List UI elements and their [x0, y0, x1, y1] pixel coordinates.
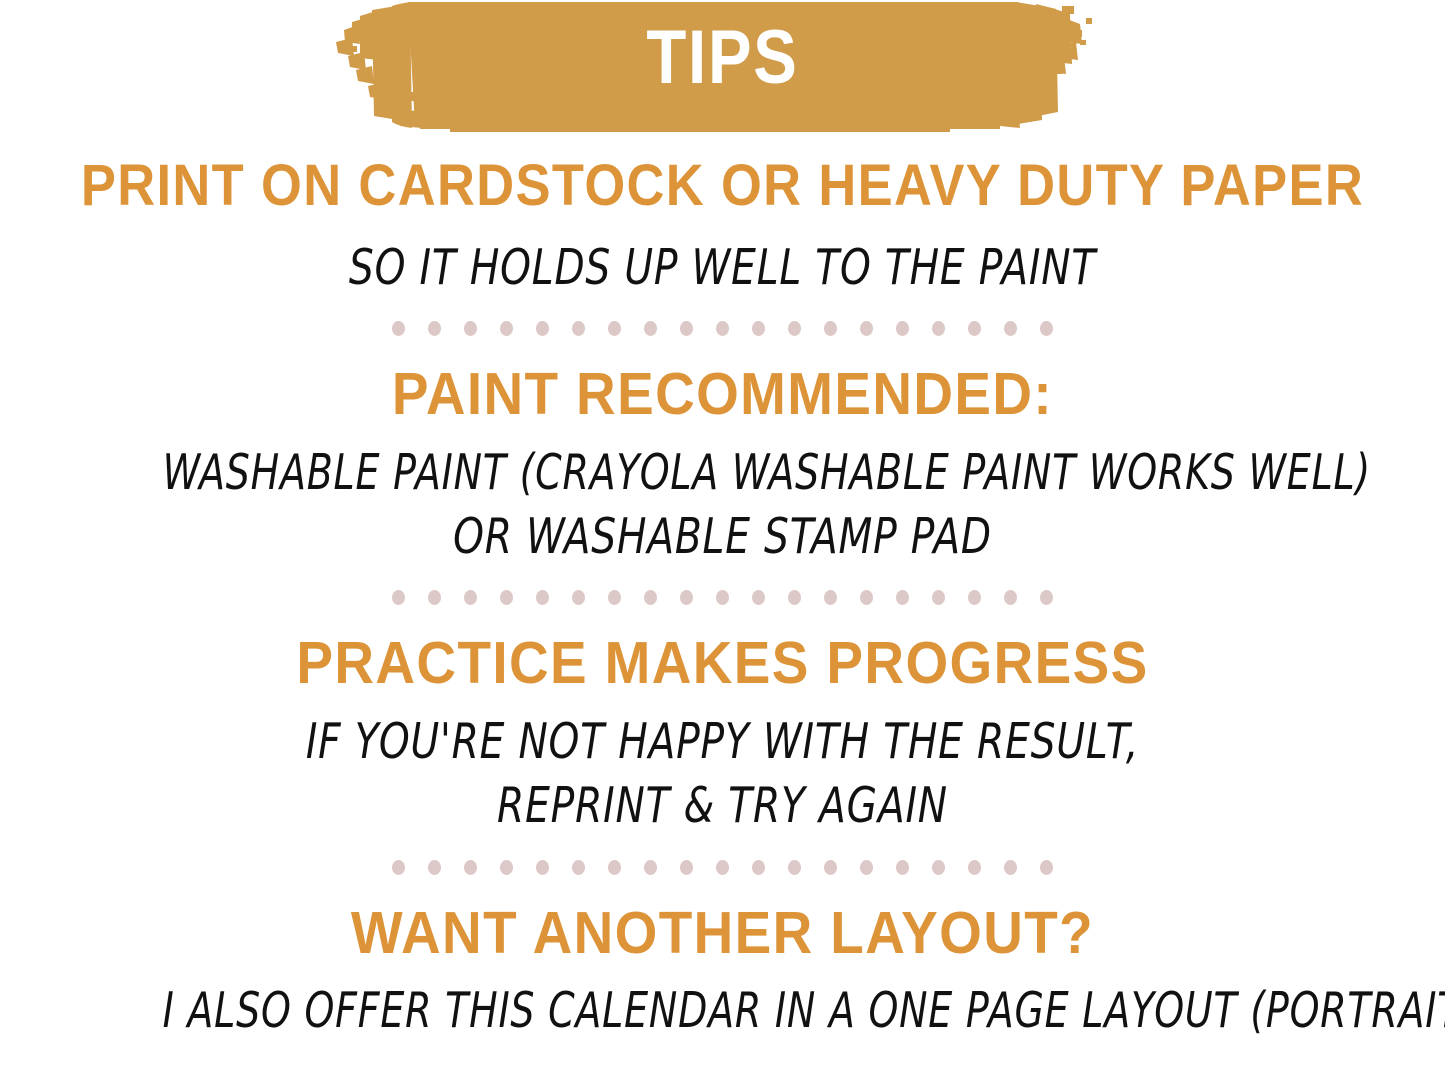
- divider-dot: [968, 590, 981, 605]
- divider-dot: [788, 590, 801, 605]
- divider-dot: [608, 590, 621, 605]
- divider-dot: [500, 590, 513, 605]
- divider-dot: [860, 321, 873, 336]
- divider-dot: [1040, 321, 1053, 336]
- divider-dot: [1004, 860, 1017, 875]
- divider-dot: [1040, 860, 1053, 875]
- divider-dot: [716, 860, 729, 875]
- divider-dot: [752, 590, 765, 605]
- divider-dot: [716, 321, 729, 336]
- tip-heading-4: WANT ANOTHER LAYOUT?: [51, 902, 1395, 966]
- divider-dot: [932, 590, 945, 605]
- tip-section-1: PRINT ON CARDSTOCK OR HEAVY DUTY PAPER S…: [0, 155, 1445, 299]
- divider-dot: [824, 860, 837, 875]
- banner-title: TIPS: [101, 0, 1344, 133]
- divider-dot: [1004, 590, 1017, 605]
- tip-body-1-line-1: SO IT HOLDS UP WELL TO THE PAINT: [145, 236, 1301, 300]
- divider-dot: [716, 590, 729, 605]
- divider-dot: [392, 860, 405, 875]
- divider-dot: [752, 321, 765, 336]
- divider-dot: [464, 860, 477, 875]
- divider-dot: [464, 321, 477, 336]
- divider-dot: [968, 860, 981, 875]
- divider-dot: [536, 321, 549, 336]
- divider-dot: [644, 590, 657, 605]
- divider-dot: [824, 321, 837, 336]
- tip-heading-2: PAINT RECOMMENDED:: [51, 363, 1395, 427]
- tip-heading-3: PRACTICE MAKES PROGRESS: [51, 632, 1395, 696]
- tip-section-4: WANT ANOTHER LAYOUT? I ALSO OFFER THIS C…: [0, 902, 1445, 1043]
- tip-body-2-line-1: WASHABLE PAINT (CRAYOLA WASHABLE PAINT W…: [163, 441, 1283, 505]
- divider-3: [0, 860, 1445, 875]
- divider-dot: [608, 860, 621, 875]
- divider-dot: [896, 860, 909, 875]
- divider-dot: [428, 321, 441, 336]
- divider-dot: [680, 590, 693, 605]
- divider-dot: [788, 321, 801, 336]
- tip-body-3-line-2: REPRINT & TRY AGAIN: [145, 774, 1301, 838]
- divider-dot: [860, 860, 873, 875]
- tip-section-3: PRACTICE MAKES PROGRESS IF YOU'RE NOT HA…: [0, 632, 1445, 837]
- divider-dot: [572, 590, 585, 605]
- divider-dot: [536, 590, 549, 605]
- tip-body-2-line-2: OR WASHABLE STAMP PAD: [145, 505, 1301, 569]
- divider-dot: [572, 321, 585, 336]
- divider-dot: [428, 860, 441, 875]
- divider-dot: [500, 321, 513, 336]
- divider-dot: [428, 590, 441, 605]
- divider-dot: [932, 321, 945, 336]
- divider-dot: [644, 321, 657, 336]
- divider-dot: [1040, 590, 1053, 605]
- divider-dot: [968, 321, 981, 336]
- divider-dot: [608, 321, 621, 336]
- tips-banner: TIPS: [0, 0, 1445, 133]
- divider-dot: [644, 860, 657, 875]
- divider-2: [0, 590, 1445, 605]
- divider-dot: [500, 860, 513, 875]
- tips-page: TIPS PRINT ON CARDSTOCK OR HEAVY DUTY PA…: [0, 0, 1445, 1084]
- divider-dot: [392, 590, 405, 605]
- tip-body-3-line-1: IF YOU'RE NOT HAPPY WITH THE RESULT,: [145, 710, 1301, 774]
- divider-dot: [752, 860, 765, 875]
- divider-dot: [680, 321, 693, 336]
- divider-dot: [392, 321, 405, 336]
- divider-dot: [860, 590, 873, 605]
- divider-dot: [680, 860, 693, 875]
- divider-dot: [572, 860, 585, 875]
- divider-dot: [932, 860, 945, 875]
- divider-dot: [896, 321, 909, 336]
- divider-dot: [1004, 321, 1017, 336]
- tip-heading-1: PRINT ON CARDSTOCK OR HEAVY DUTY PAPER: [69, 155, 1377, 218]
- tip-section-2: PAINT RECOMMENDED: WASHABLE PAINT (CRAYO…: [0, 363, 1445, 568]
- divider-dot: [788, 860, 801, 875]
- divider-dot: [536, 860, 549, 875]
- divider-dot: [896, 590, 909, 605]
- divider-dot: [824, 590, 837, 605]
- divider-dot: [464, 590, 477, 605]
- divider-1: [0, 321, 1445, 336]
- tip-body-4-line-1: I ALSO OFFER THIS CALENDAR IN A ONE PAGE…: [163, 979, 1283, 1043]
